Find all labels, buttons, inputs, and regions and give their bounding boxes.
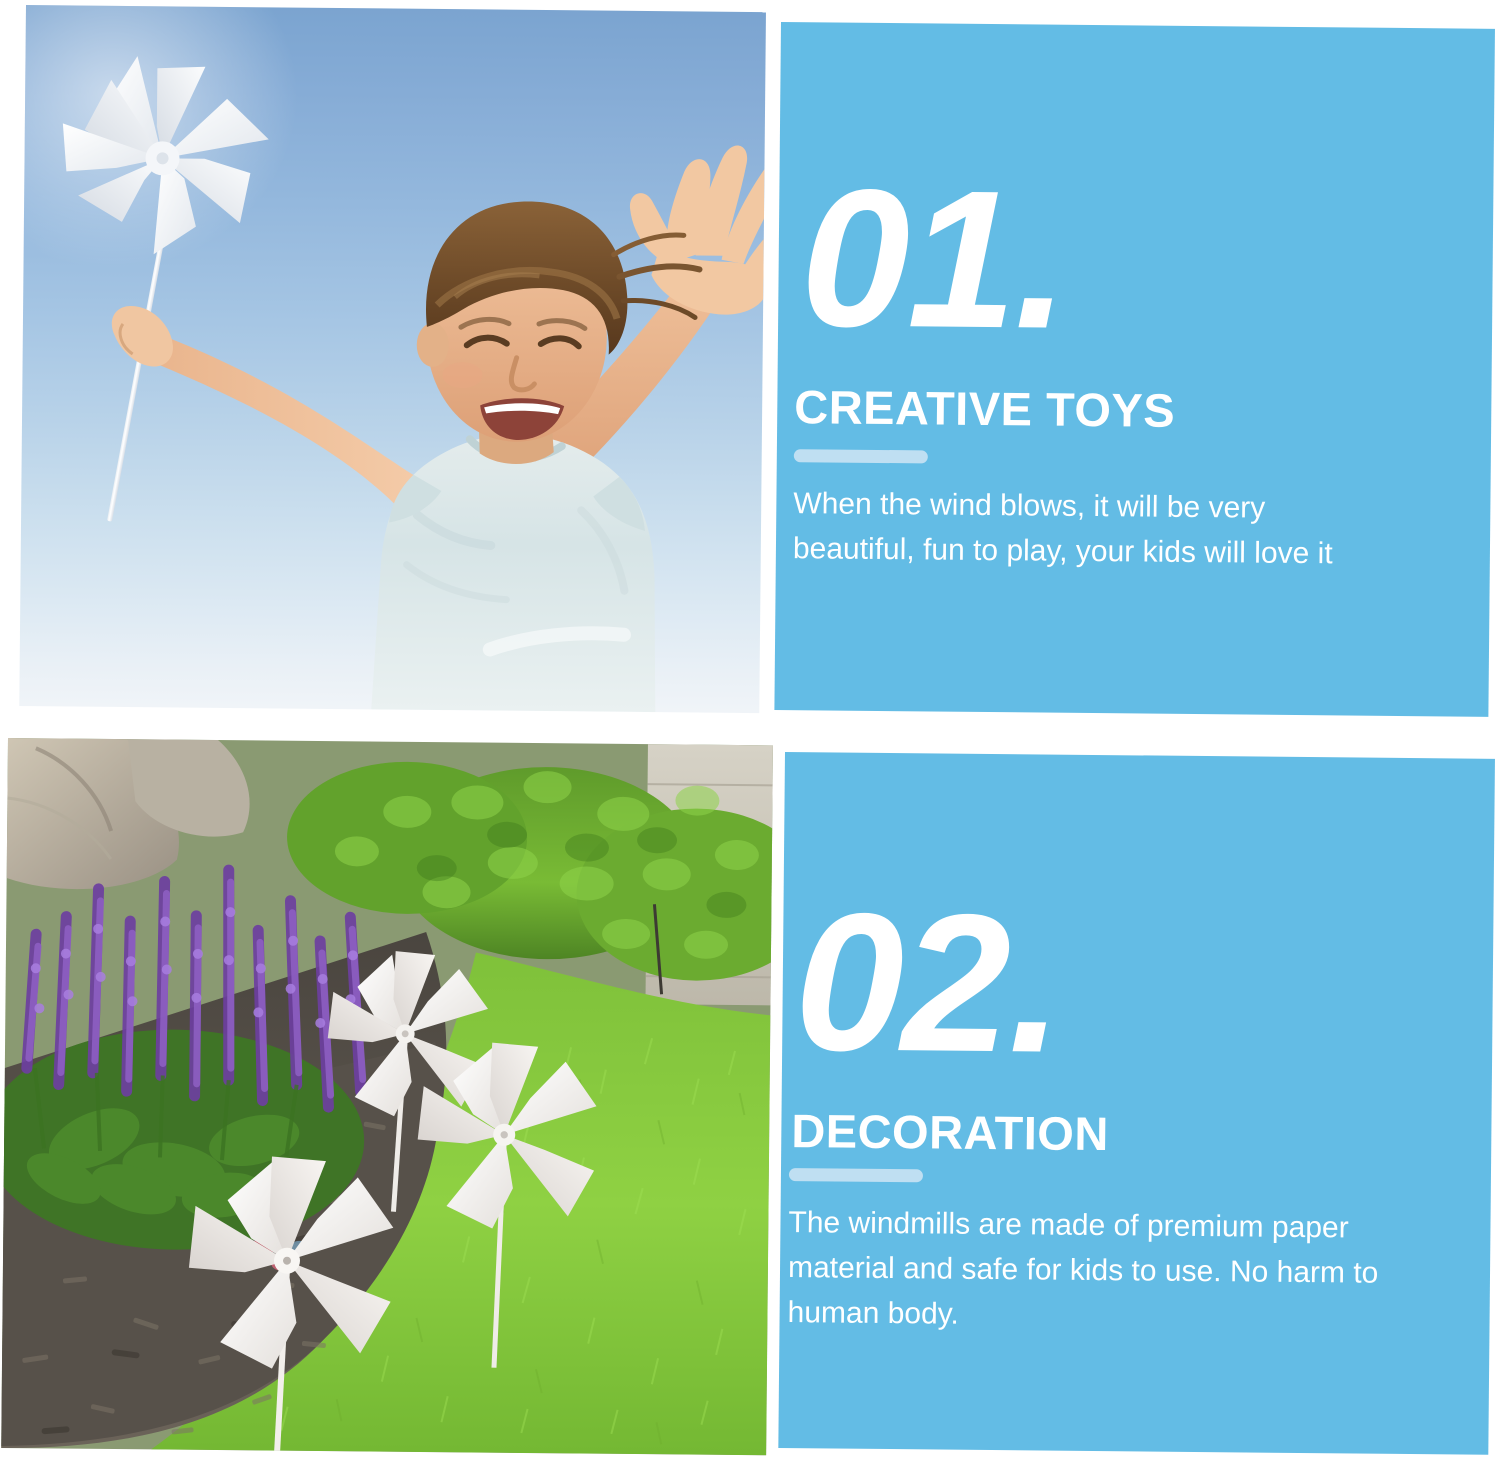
product-feature-infographic: 01. CREATIVE TOYS When the wind blows, i… [0,0,1500,1472]
garden-scene [1,738,773,1455]
boy-figure [19,5,766,713]
feature-body-2: The windmills are made of premium paper … [787,1200,1428,1341]
boy-with-pinwheel-photo [19,5,766,713]
feature-panel-1: 01. CREATIVE TOYS When the wind blows, i… [774,22,1495,717]
feature-body-1: When the wind blows, it will be very bea… [793,481,1374,577]
feature-heading-1: CREATIVE TOYS [794,383,1175,434]
feature-number-2: 02. [794,884,1062,1083]
pinwheels-in-garden-photo [1,738,773,1455]
feature-divider-2 [789,1168,923,1182]
feature-number-1: 01. [800,160,1068,359]
feature-panel-2: 02. DECORATION The windmills are made of… [778,752,1495,1455]
feature-divider-1 [794,449,928,463]
feature-heading-2: DECORATION [791,1107,1109,1157]
